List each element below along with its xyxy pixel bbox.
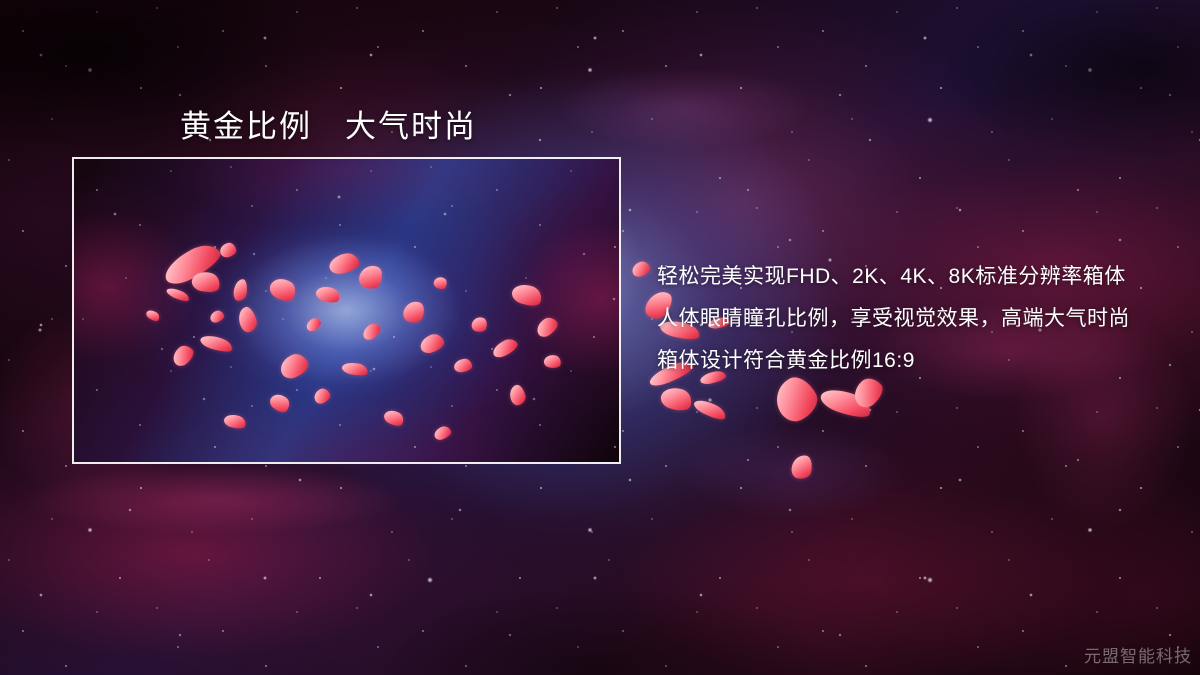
watermark: 元盟智能科技	[1084, 642, 1192, 667]
body-line: 人体眼睛瞳孔比例，享受视觉效果，高端大气时尚	[657, 298, 1177, 340]
framed-image[interactable]	[72, 157, 621, 464]
framed-starfield-medium	[74, 159, 619, 462]
presentation-slide: 黄金比例 大气时尚 轻松完美实现FHD、2K、4K、8K标准分辨率箱体 人体眼睛…	[0, 0, 1200, 675]
page-title: 黄金比例 大气时尚	[180, 101, 477, 146]
body-line: 箱体设计符合黄金比例16:9	[657, 340, 1177, 382]
body-line: 轻松完美实现FHD、2K、4K、8K标准分辨率箱体	[657, 256, 1177, 298]
body-copy: 轻松完美实现FHD、2K、4K、8K标准分辨率箱体 人体眼睛瞳孔比例，享受视觉效…	[657, 256, 1177, 382]
